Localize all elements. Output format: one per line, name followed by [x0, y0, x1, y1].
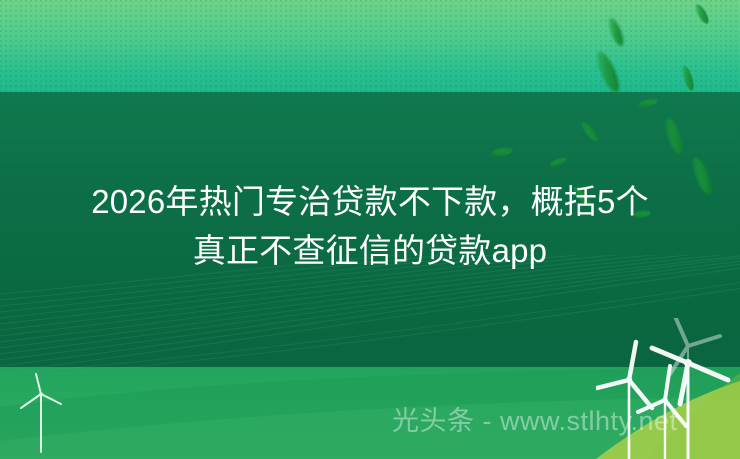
- turbines-right-svg: [596, 318, 740, 459]
- wind-turbine-cluster-right: [596, 318, 740, 459]
- title-line-1: 2026年热门专治贷款不下款，概括5个: [18, 177, 722, 226]
- leaf-icon: [593, 49, 624, 95]
- wind-turbine-icon: [652, 348, 728, 459]
- title-line-2: 真正不查征信的贷款app: [18, 226, 722, 275]
- leaf-icon: [606, 16, 627, 48]
- page-title: 2026年热门专治贷款不下款，概括5个 真正不查征信的贷款app: [0, 177, 740, 275]
- watermark-text: 光头条 - www.stlhty.net: [392, 405, 678, 437]
- wind-turbine-icon: [670, 318, 720, 459]
- leaf-icon: [662, 116, 686, 156]
- wind-turbine-icon: [21, 374, 61, 452]
- leaf-icon: [490, 146, 513, 158]
- wind-turbine-left: [14, 372, 76, 459]
- wind-turbine-icon: [597, 342, 652, 459]
- leaf-icon: [579, 120, 601, 144]
- leaf-icon: [549, 156, 568, 169]
- leaf-icon: [693, 2, 711, 25]
- leaf-icon: [680, 64, 696, 91]
- turbine-left-svg: [14, 372, 76, 459]
- article-cover-banner: 2026年热门专治贷款不下款，概括5个 真正不查征信的贷款app 光头条 - w…: [0, 0, 740, 459]
- leaf-icon: [637, 97, 658, 109]
